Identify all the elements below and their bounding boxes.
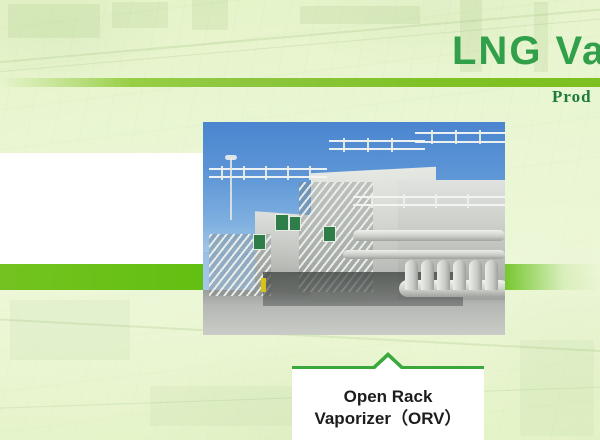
photo-green-sign (253, 234, 266, 250)
caption-line-2: Vaporizer（ORV） (292, 408, 484, 430)
photo-pipe-run (343, 250, 505, 259)
photo-rail-post (243, 166, 245, 180)
photo-rail-post (431, 130, 433, 144)
photo-rail-post (221, 166, 223, 180)
photo-pipe-elbow (469, 260, 482, 290)
header-accent-rule (0, 78, 600, 87)
photo-handrail (415, 132, 505, 134)
background-structure-block (112, 2, 168, 28)
background-structure-block (192, 0, 228, 30)
photo-rail-post (367, 138, 369, 152)
photo-handrail (353, 204, 505, 206)
photo-light-pole (230, 158, 232, 220)
photo-light-head (225, 155, 237, 160)
photo-pipe-elbow (405, 260, 418, 290)
background-structure-block (300, 6, 420, 24)
photo-pipe-elbow (437, 260, 450, 290)
photo-worker (261, 278, 266, 292)
page-subtitle: Prod (552, 88, 592, 105)
photo-rail-post (403, 194, 405, 208)
photo-rail-post (265, 166, 267, 180)
photo-rail-post (287, 166, 289, 180)
equipment-photo (203, 122, 505, 335)
photo-green-sign (323, 226, 336, 242)
content-white-panel (0, 153, 204, 265)
photo-rail-post (479, 130, 481, 144)
photo-rail-post (435, 194, 437, 208)
photo-rail-post (343, 138, 345, 152)
slide-canvas: LNG Va Prod (0, 0, 600, 440)
background-structure-block (10, 300, 130, 360)
background-structure-block (8, 4, 100, 38)
caption-pointer-inner-icon (375, 357, 401, 369)
photo-pipe-elbow (421, 260, 434, 290)
photo-handrail (415, 141, 505, 143)
caption-line-1: Open Rack (292, 386, 484, 408)
photo-rail-post (467, 194, 469, 208)
photo-green-sign (275, 214, 289, 231)
photo-rail-post (371, 194, 373, 208)
photo-rail-post (391, 138, 393, 152)
photo-pipe-elbow (453, 260, 466, 290)
photo-rail-post (455, 130, 457, 144)
photo-pipe-elbow (485, 260, 498, 290)
page-title: LNG Va (452, 31, 600, 71)
caption-label: Open Rack Vaporizer（ORV） (292, 386, 484, 431)
photo-pipe-run (353, 230, 505, 241)
photo-green-sign (289, 216, 301, 231)
photo-rail-post (309, 166, 311, 180)
photo-handrail (353, 196, 505, 198)
